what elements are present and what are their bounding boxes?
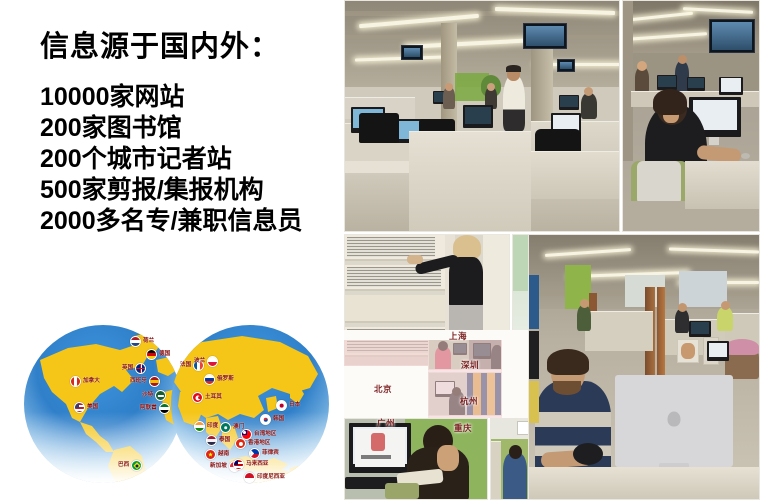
turkey-flag-icon	[192, 392, 203, 403]
indonesia-flag-icon	[244, 472, 255, 483]
usa-flag-icon	[74, 402, 85, 413]
photo-man-at-imac	[528, 234, 760, 500]
label-band	[502, 332, 528, 418]
india-flag-icon	[194, 421, 205, 432]
flag-label: 美国	[87, 405, 98, 411]
info-source-list: 10000家网站 200家图书馆 200个城市记者站 500家剪报/集报机构 2…	[40, 82, 303, 237]
flag-pin-uae: 阿联酋	[140, 403, 170, 414]
uk-flag-icon	[135, 363, 146, 374]
flag-pin-malaysia: 马来西亚	[233, 459, 268, 470]
philippines-flag-icon	[249, 448, 260, 459]
thailand-flag-icon	[206, 435, 217, 446]
list-item: 2000多名专/兼职信息员	[40, 206, 303, 237]
photo-scene	[345, 1, 619, 231]
flag-pin-turkey: 土耳其	[192, 392, 222, 403]
flag-label: 马来西亚	[246, 462, 268, 468]
russia-flag-icon	[204, 374, 215, 385]
flag-label: 印度	[207, 424, 218, 430]
flag-label: 巴西	[118, 463, 129, 469]
flag-pin-saudi: 沙特	[142, 390, 166, 401]
netherlands-flag-icon	[130, 336, 141, 347]
flag-label: 新加坡	[210, 464, 227, 470]
flag-label: 德国	[159, 352, 170, 358]
flag-label: 日本	[289, 403, 300, 409]
flag-pin-spain: 西班牙	[130, 376, 160, 387]
flag-pin-india: 印度	[194, 421, 218, 432]
photo-collage: 上海 深圳 杭州 北京 重庆 广州	[344, 0, 760, 500]
city-label-hangzhou: 杭州	[460, 395, 478, 407]
flag-label: 台湾地区	[254, 432, 276, 438]
flag-label: 香港地区	[248, 441, 270, 447]
city-label-beijing: 北京	[374, 383, 392, 395]
flag-pin-japan: 日本	[276, 400, 300, 411]
photo-scene	[529, 235, 759, 499]
text-panel: 信息源于国内外： 10000家网站 200家图书馆 200个城市记者站 500家…	[0, 0, 340, 320]
apple-logo-icon	[668, 412, 681, 427]
flag-label: 加拿大	[83, 379, 100, 385]
spain-flag-icon	[149, 376, 160, 387]
city-label-chongqing: 重庆	[454, 422, 472, 434]
flag-label: 泰国	[219, 438, 230, 444]
germany-flag-icon	[146, 349, 157, 360]
country-flag-pins: 荷兰 德国 英国 西班牙 沙特	[22, 322, 340, 497]
world-globes-graphic: 荷兰 德国 英国 西班牙 沙特	[22, 322, 340, 497]
flag-pin-brazil: 巴西	[118, 460, 142, 471]
flag-pin-uk: 英国	[122, 363, 146, 374]
flag-label: 韩国	[273, 417, 284, 423]
list-item: 200家图书馆	[40, 113, 303, 144]
flag-pin-netherlands: 荷兰	[130, 336, 154, 347]
poland-flag-icon	[207, 356, 218, 367]
flag-label: 波兰	[194, 359, 205, 365]
macau-flag-icon	[220, 422, 231, 433]
city-label-guangzhou: 广州	[377, 417, 395, 429]
flag-pin-poland: 波兰	[194, 356, 218, 367]
flag-label: 西班牙	[130, 379, 147, 385]
flag-pin-korea: 韩国	[260, 414, 284, 425]
list-item: 500家剪报/集报机构	[40, 175, 303, 206]
flag-pin-canada: 加拿大	[70, 376, 100, 387]
flag-label: 阿联酋	[140, 406, 157, 412]
flag-pin-thailand: 泰国	[206, 435, 230, 446]
flag-label: 英国	[122, 366, 133, 372]
uae-flag-icon	[159, 403, 170, 414]
flag-label: 土耳其	[205, 395, 222, 401]
flag-label: 荷兰	[143, 339, 154, 345]
city-label-shenzhen: 深圳	[461, 359, 479, 371]
flag-label: 越南	[218, 452, 229, 458]
canada-flag-icon	[70, 376, 81, 387]
hongkong-flag-icon	[235, 438, 246, 449]
vietnam-flag-icon	[205, 449, 216, 460]
brazil-flag-icon	[131, 460, 142, 471]
flag-pin-philippines: 菲律宾	[249, 448, 279, 459]
korea-flag-icon	[260, 414, 271, 425]
flag-label: 法国	[180, 363, 191, 369]
flag-label: 菲律宾	[262, 451, 279, 457]
flag-label: 印度尼西亚	[257, 475, 285, 481]
photo-open-plan-office	[344, 0, 620, 232]
label-band	[344, 330, 528, 340]
flag-pin-vietnam: 越南	[205, 449, 229, 460]
slide-root: 信息源于国内外： 10000家网站 200家图书馆 200个城市记者站 500家…	[0, 0, 760, 500]
flag-pin-russia: 俄罗斯	[204, 374, 234, 385]
photo-woman-at-workstation	[622, 0, 760, 232]
japan-flag-icon	[276, 400, 287, 411]
photo-scene	[623, 1, 759, 231]
page-title: 信息源于国内外：	[40, 23, 280, 65]
city-label-shanghai: 上海	[449, 330, 467, 342]
flag-label: 俄罗斯	[217, 377, 234, 383]
saudi-flag-icon	[155, 390, 166, 401]
list-item: 10000家网站	[40, 82, 303, 113]
flag-pin-indonesia: 印度尼西亚	[244, 472, 285, 483]
flag-pin-usa: 美国	[74, 402, 98, 413]
flag-pin-germany: 德国	[146, 349, 170, 360]
list-item: 200个城市记者站	[40, 144, 303, 175]
flag-label: 沙特	[142, 393, 153, 399]
malaysia-flag-icon	[233, 459, 244, 470]
